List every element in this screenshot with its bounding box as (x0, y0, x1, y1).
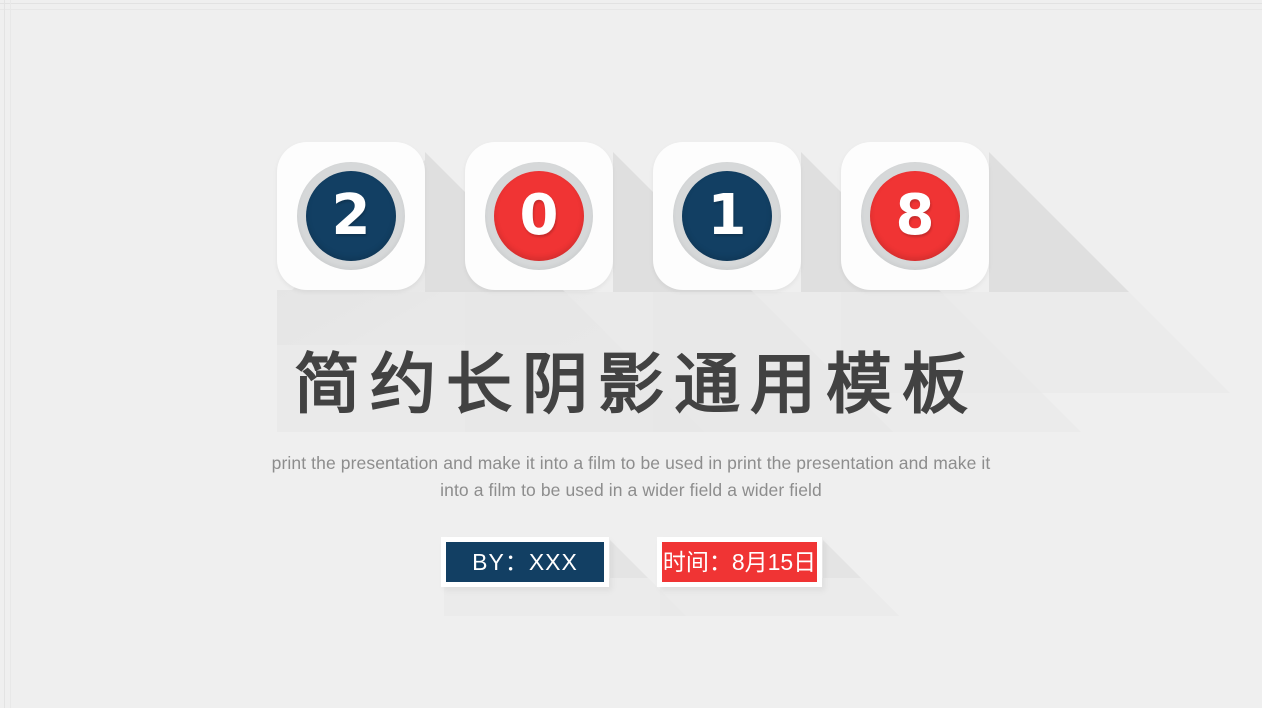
year-tile-2[interactable]: 2 (277, 142, 425, 290)
year-tile-ring: 1 (673, 162, 781, 270)
date-badge-label: 时间：8月15日 (662, 542, 817, 582)
year-digit: 8 (896, 188, 935, 244)
year-tile-disc: 2 (306, 171, 396, 261)
subtitle-line-2: into a film to be used in a wider field … (181, 477, 1081, 504)
year-tile-card: 1 (653, 142, 801, 290)
year-tile-card: 2 (277, 142, 425, 290)
slide-title: 简约长阴影通用模板 (0, 345, 1262, 425)
author-badge-label: BY：XXX (446, 542, 604, 582)
year-tile-ring: 8 (861, 162, 969, 270)
year-tile-1[interactable]: 1 (653, 142, 801, 290)
year-tile-0[interactable]: 0 (465, 142, 613, 290)
year-tile-card: 8 (841, 142, 989, 290)
slide-subtitle: print the presentation and make it into … (181, 450, 1081, 504)
year-tile-disc: 1 (682, 171, 772, 261)
year-digit: 0 (520, 188, 559, 244)
presentation-slide: 2 0 1 (0, 0, 1262, 708)
date-badge[interactable]: 时间：8月15日 (657, 537, 822, 587)
year-tile-disc: 0 (494, 171, 584, 261)
year-digit: 1 (708, 188, 747, 244)
year-tile-8[interactable]: 8 (841, 142, 989, 290)
year-tile-ring: 0 (485, 162, 593, 270)
year-tile-disc: 8 (870, 171, 960, 261)
year-tile-card: 0 (465, 142, 613, 290)
year-tile-ring: 2 (297, 162, 405, 270)
author-badge[interactable]: BY：XXX (441, 537, 609, 587)
year-digit: 2 (332, 188, 371, 244)
subtitle-line-1: print the presentation and make it into … (181, 450, 1081, 477)
